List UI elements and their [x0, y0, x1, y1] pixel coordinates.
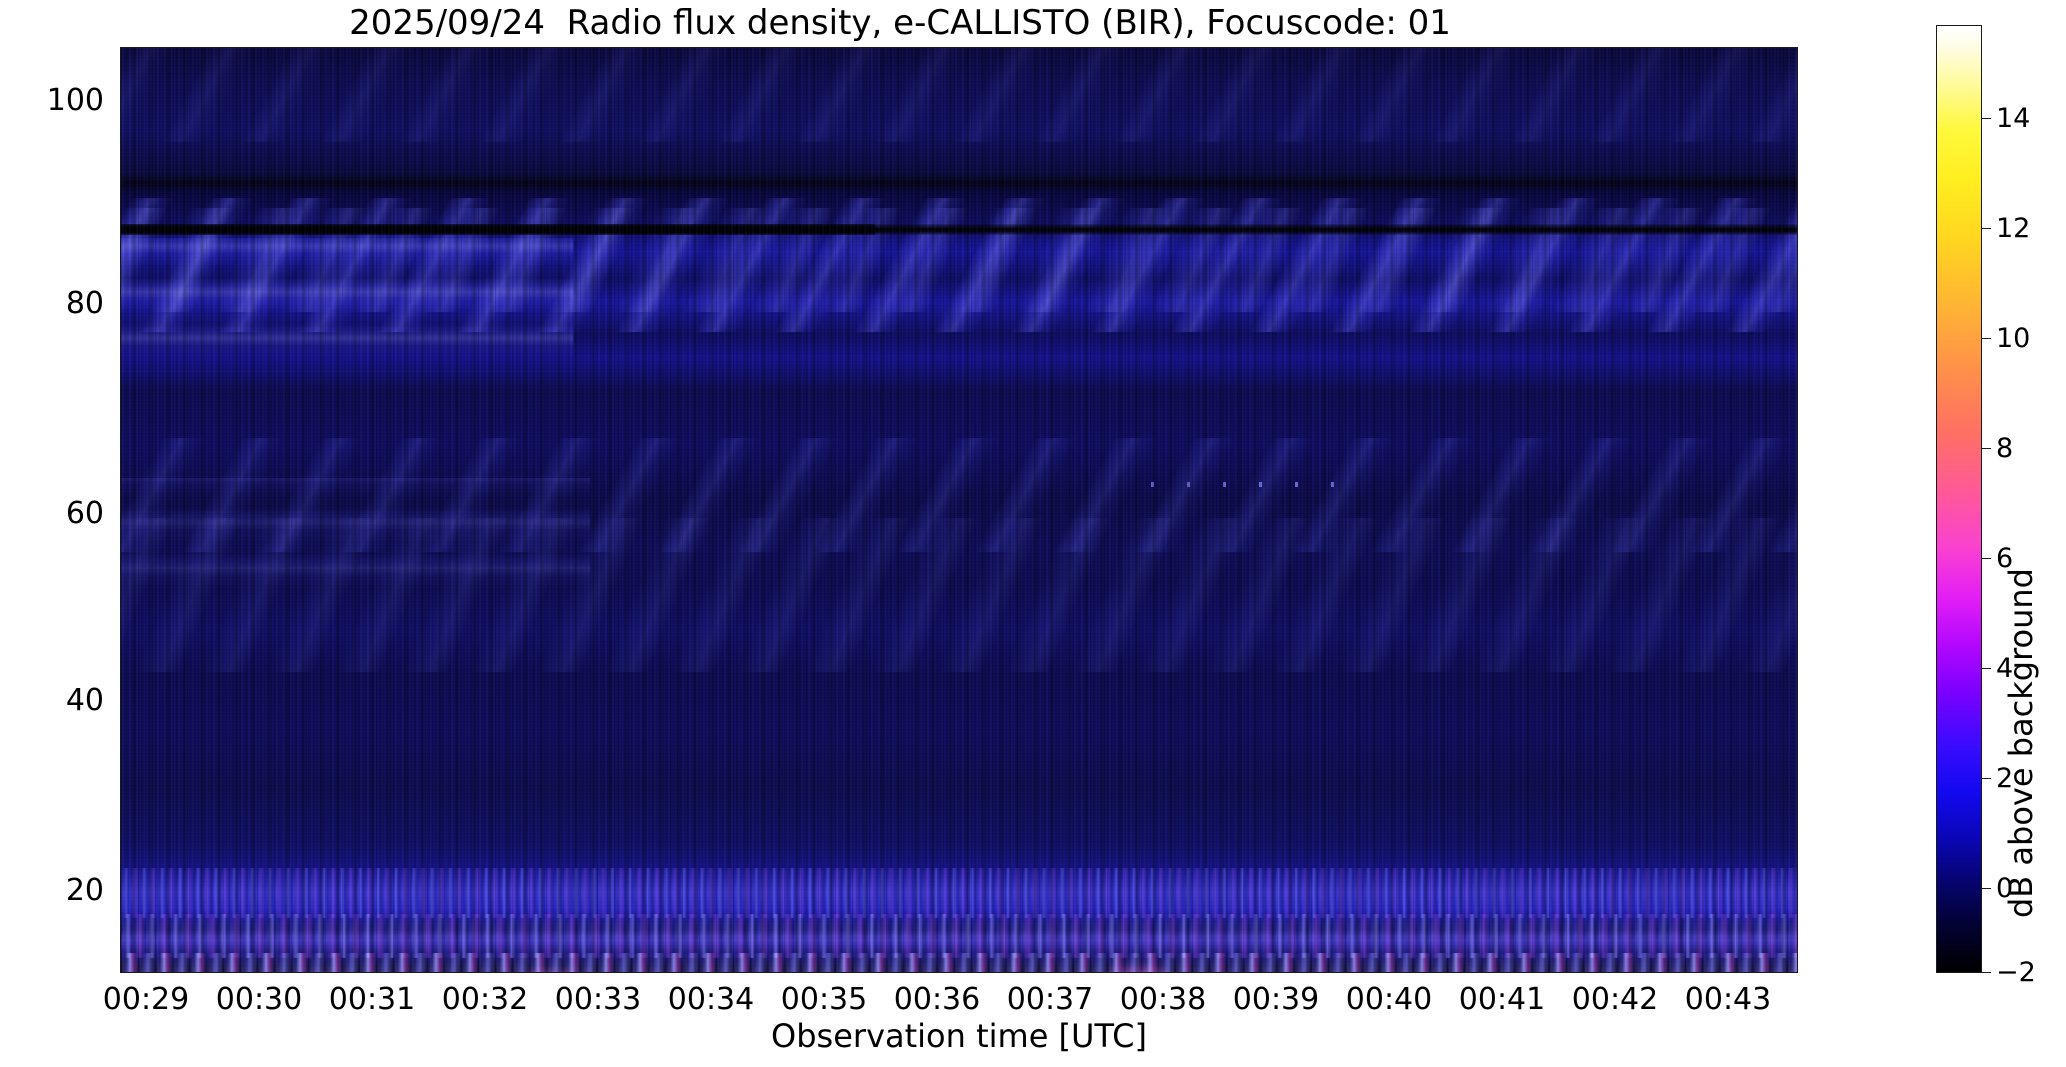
cbar-tick-2 — [1982, 778, 1991, 779]
page-title: 2025/09/24 Radio flux density, e-CALLIST… — [0, 2, 1800, 44]
ytick-80 — [120, 304, 121, 305]
ytick-label-40: 40 — [42, 686, 104, 716]
ytick-label-80: 80 — [42, 289, 104, 319]
colorbar-gradient — [1936, 25, 1982, 973]
ytick-label-100: 100 — [42, 86, 104, 116]
cbar-tick-10 — [1982, 338, 1991, 339]
cbar-tick-minus2 — [1982, 972, 1991, 973]
colorbar[interactable]: 14 12 10 8 6 4 2 0 −2 — [1936, 25, 1982, 973]
ytick-40 — [120, 701, 121, 702]
cbar-label-10: 10 — [1996, 325, 2030, 352]
ytick-label-60: 60 — [42, 499, 104, 529]
time-noise-layer-b — [121, 48, 1797, 972]
ytick-100 — [120, 101, 121, 102]
ytick-20 — [120, 891, 121, 892]
cbar-label-8: 8 — [1996, 435, 2013, 462]
cbar-tick-14 — [1982, 118, 1991, 119]
colorbar-axis-label: dB above background — [2002, 568, 2040, 918]
xtick-label-14: 00:43 — [1648, 984, 1808, 1016]
x-axis-label: Observation time [UTC] — [120, 1017, 1798, 1055]
cbar-tick-4 — [1982, 668, 1991, 669]
cbar-tick-8 — [1982, 448, 1991, 449]
cbar-tick-0 — [1982, 888, 1991, 889]
ytick-label-20: 20 — [42, 876, 104, 906]
ytick-60 — [120, 514, 121, 515]
cbar-tick-12 — [1982, 228, 1991, 229]
figure-canvas: 2025/09/24 Radio flux density, e-CALLIST… — [0, 0, 2066, 1067]
cbar-label-14: 14 — [1996, 105, 2030, 132]
cbar-label-minus2: −2 — [1996, 959, 2036, 986]
cbar-label-12: 12 — [1996, 215, 2030, 242]
cbar-tick-6 — [1982, 558, 1991, 559]
spectrogram-axes[interactable] — [120, 47, 1798, 973]
